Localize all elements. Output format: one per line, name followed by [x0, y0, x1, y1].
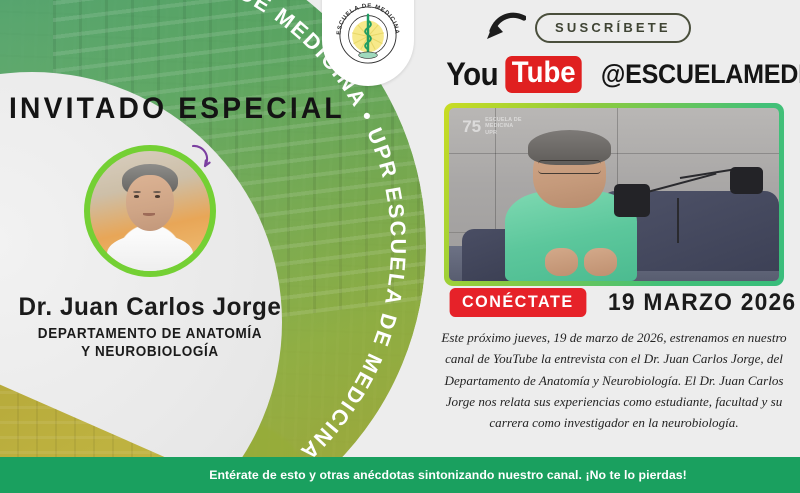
watermark-line-2: MEDICINA [485, 123, 522, 130]
youtube-brand-row[interactable]: You Tube @ESCUELAMEDICINAUPR [444, 56, 800, 93]
youtube-logo-tube: Tube [506, 56, 583, 93]
youtube-handle[interactable]: @ESCUELAMEDICINAUPR [601, 59, 800, 90]
right-panel: SUSCRÍBETE You Tube @ESCUELAMEDICINAUPR [428, 0, 800, 493]
guest-block: INVITADO ESPECIAL Dr. Juan Carlos Jorge … [0, 92, 300, 361]
microphone-2-icon [730, 167, 763, 195]
poster-canvas: UPR ESCUELA DE MEDICINA • UPR ESCUELA DE… [0, 0, 800, 493]
banner-text: Entérate de esto y otras anécdotas sinto… [0, 468, 800, 482]
watermark-number: 75 [462, 118, 481, 135]
video-thumbnail[interactable]: 75 ESCUELA DE MEDICINA UPR [444, 103, 784, 286]
guest-kicker: INVITADO ESPECIAL [9, 92, 291, 126]
department-line-2: Y NEUROBIOLOGÍA [11, 344, 290, 362]
portrait-face [126, 175, 174, 231]
connect-badge: CONÉCTATE [450, 288, 586, 317]
guest-department: DEPARTAMENTO DE ANATOMÍA Y NEUROBIOLOGÍA [11, 326, 290, 361]
escuela-de-medicina-seal-icon: ESCUELA DE MEDICINA [332, 0, 404, 71]
curved-arrow-icon [484, 11, 526, 45]
portrait-eye-right [155, 195, 160, 198]
microphone-1-icon [614, 184, 650, 217]
speaker-hand-left [545, 248, 578, 276]
guest-name: Dr. Juan Carlos Jorge [5, 293, 296, 322]
bottom-banner: Entérate de esto y otras anécdotas sinto… [0, 457, 800, 493]
portrait-container [84, 145, 216, 277]
watermark-line-1: ESCUELA DE [485, 117, 522, 124]
subscribe-button[interactable]: SUSCRÍBETE [535, 13, 691, 43]
video-thumbnail-image: 75 ESCUELA DE MEDICINA UPR [449, 108, 779, 281]
portrait-brow-right [153, 191, 161, 193]
event-date: 19 MARZO 2026 [608, 289, 796, 317]
purple-arc-icon [186, 140, 220, 174]
portrait-brow-left [133, 191, 141, 193]
mic-stand [677, 198, 679, 243]
watermark-text: ESCUELA DE MEDICINA UPR [485, 117, 522, 137]
speaker-hand-right [584, 248, 617, 276]
anniversary-watermark: 75 ESCUELA DE MEDICINA UPR [462, 117, 521, 137]
youtube-logo-you: You [446, 56, 498, 93]
event-description: Este próximo jueves, 19 de marzo de 2026… [430, 327, 798, 434]
date-row: CONÉCTATE 19 MARZO 2026 [446, 288, 800, 317]
subscribe-row: SUSCRÍBETE [484, 11, 691, 45]
department-line-1: DEPARTAMENTO DE ANATOMÍA [11, 326, 290, 344]
speaker-glasses-icon [538, 160, 601, 174]
watermark-line-3: UPR [485, 130, 522, 137]
portrait-shirt [107, 234, 193, 275]
